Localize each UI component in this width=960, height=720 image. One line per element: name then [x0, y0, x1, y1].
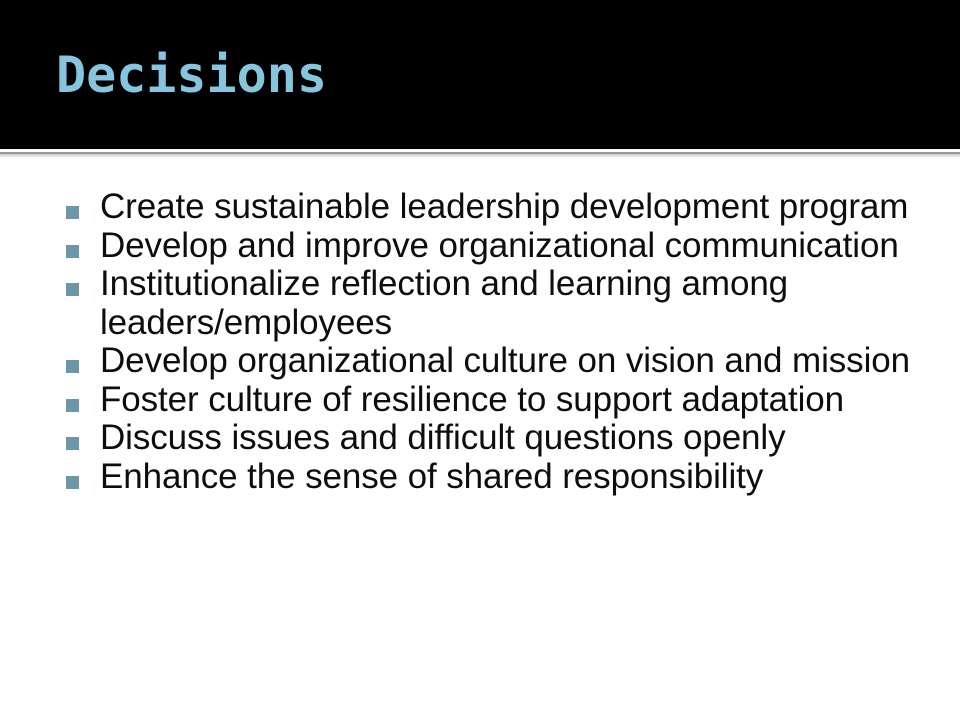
list-item: Develop and improve organizational commu…	[60, 227, 940, 266]
list-item: Discuss issues and difficult questions o…	[60, 419, 940, 458]
list-item-label: Institutionalize reflection and learning…	[100, 265, 940, 342]
list-item-label: Create sustainable leadership developmen…	[100, 188, 940, 227]
list-item-label: Discuss issues and difficult questions o…	[100, 419, 940, 458]
list-item: Develop organizational culture on vision…	[60, 342, 940, 381]
square-bullet-icon	[66, 399, 79, 412]
list-item: Institutionalize reflection and learning…	[60, 265, 940, 342]
list-item: Create sustainable leadership developmen…	[60, 188, 940, 227]
square-bullet-icon	[66, 283, 79, 296]
square-bullet-icon	[66, 476, 79, 489]
square-bullet-icon	[66, 437, 79, 450]
page-title: Decisions	[56, 48, 327, 103]
list-item-label: Enhance the sense of shared responsibili…	[100, 458, 940, 497]
square-bullet-icon	[66, 245, 79, 258]
square-bullet-icon	[66, 360, 79, 373]
presentation-slide: Decisions Create sustainable leadership …	[0, 0, 960, 720]
list-item-label: Foster culture of resilience to support …	[100, 381, 940, 420]
divider-fade	[0, 154, 960, 158]
bullet-list: Create sustainable leadership developmen…	[60, 188, 940, 496]
list-item-label: Develop organizational culture on vision…	[100, 342, 940, 381]
list-item: Enhance the sense of shared responsibili…	[60, 458, 940, 497]
square-bullet-icon	[66, 206, 79, 219]
list-item: Foster culture of resilience to support …	[60, 381, 940, 420]
list-item-label: Develop and improve organizational commu…	[100, 227, 940, 266]
